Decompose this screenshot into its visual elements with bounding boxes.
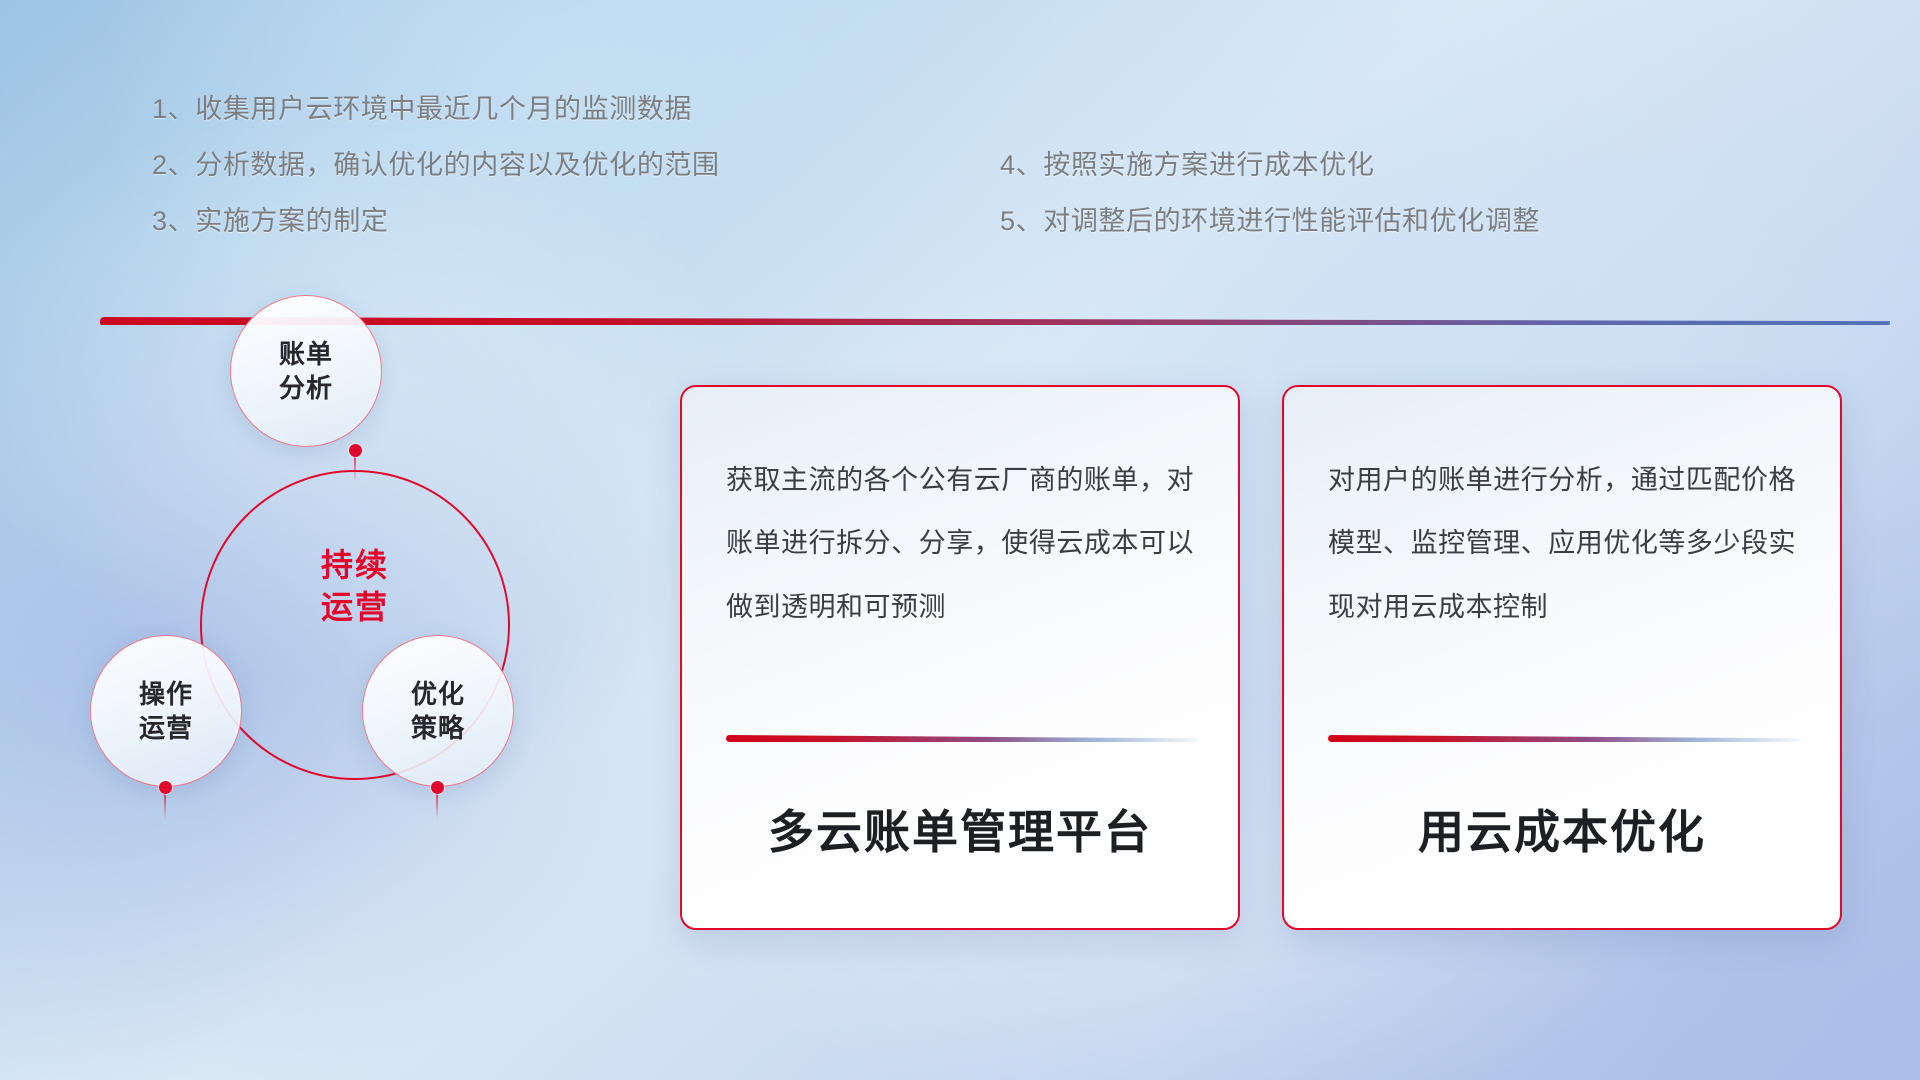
venn-center-label: 持续 运营 xyxy=(265,545,445,628)
card-multicloud-billing-platform[interactable]: 获取主流的各个公有云厂商的账单，对账单进行拆分、分享，使得云成本可以做到透明和可… xyxy=(680,385,1240,930)
venn-center-label-line2: 运营 xyxy=(265,587,445,629)
step-item-2: 2、分析数据，确认优化的内容以及优化的范围 xyxy=(152,152,720,179)
venn-node-bill-analysis[interactable]: 账单 分析 xyxy=(230,295,382,447)
steps-right-column: 4、按照实施方案进行成本优化 5、对调整后的环境进行性能评估和优化调整 xyxy=(1000,152,1540,264)
venn-node-bill-analysis-line2: 分析 xyxy=(279,371,333,405)
step-item-1: 1、收集用户云环境中最近几个月的监测数据 xyxy=(152,96,720,123)
venn-node-operations[interactable]: 操作 运营 xyxy=(90,635,242,787)
card-1-title: 多云账单管理平台 xyxy=(682,796,1238,862)
venn-connector-left xyxy=(164,793,166,819)
venn-node-bill-analysis-line1: 账单 xyxy=(279,337,333,371)
card-2-title: 用云成本优化 xyxy=(1284,796,1840,862)
venn-node-optimization-strategy-line1: 优化 xyxy=(411,677,465,711)
venn-node-optimization-strategy[interactable]: 优化 策略 xyxy=(362,635,514,787)
venn-node-dot-right xyxy=(431,781,444,794)
venn-connector-right xyxy=(436,793,438,819)
venn-node-dot-left xyxy=(159,781,172,794)
card-1-accent-rule xyxy=(726,735,1198,742)
steps-left-column: 1、收集用户云环境中最近几个月的监测数据 2、分析数据，确认优化的内容以及优化的… xyxy=(152,96,720,264)
section-divider-rule xyxy=(100,317,1890,325)
step-item-5: 5、对调整后的环境进行性能评估和优化调整 xyxy=(1000,208,1540,235)
venn-node-optimization-strategy-line2: 策略 xyxy=(411,711,465,745)
card-2-body-text: 对用户的账单进行分析，通过匹配价格模型、监控管理、应用优化等多少段实现对用云成本… xyxy=(1328,449,1796,639)
card-1-body-text: 获取主流的各个公有云厂商的账单，对账单进行拆分、分享，使得云成本可以做到透明和可… xyxy=(726,449,1194,639)
venn-connector-top xyxy=(354,456,356,482)
step-item-4: 4、按照实施方案进行成本优化 xyxy=(1000,152,1540,179)
venn-node-dot-top xyxy=(349,444,362,457)
venn-center-label-line1: 持续 xyxy=(265,545,445,587)
venn-node-operations-line2: 运营 xyxy=(139,711,193,745)
venn-node-operations-line1: 操作 xyxy=(139,677,193,711)
venn-diagram: 持续 运营 账单 分析 操作 运营 优化 策略 xyxy=(100,340,620,940)
card-2-accent-rule xyxy=(1328,735,1800,742)
card-cloud-cost-optimization[interactable]: 对用户的账单进行分析，通过匹配价格模型、监控管理、应用优化等多少段实现对用云成本… xyxy=(1282,385,1842,930)
step-item-3: 3、实施方案的制定 xyxy=(152,208,720,235)
